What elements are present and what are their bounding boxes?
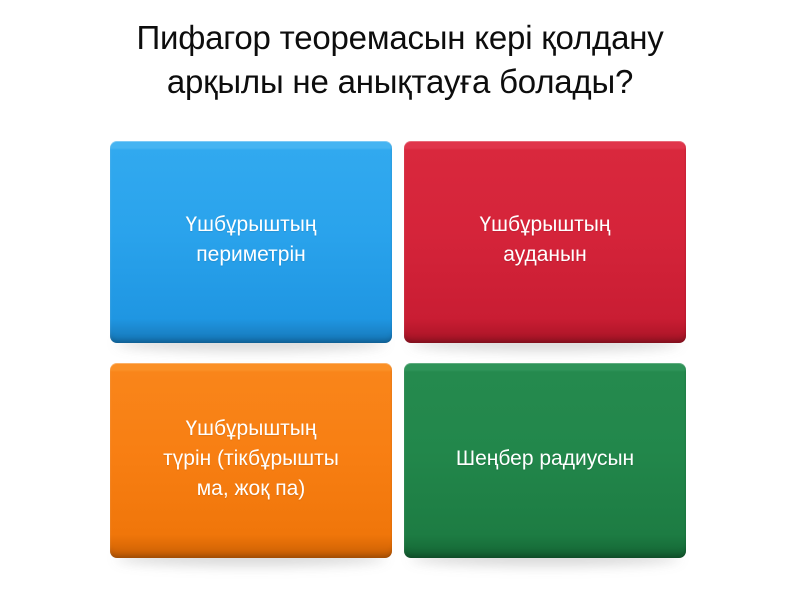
question-area: Пифагор теоремасын кері қолдану арқылы н…: [0, 16, 800, 104]
quiz-slide: Пифагор теоремасын кері қолдану арқылы н…: [0, 0, 800, 600]
answer-option-label: Үшбұрыштың периметрін: [186, 210, 317, 270]
answer-option-orange[interactable]: Үшбұрыштың түрін (тікбұрышты ма, жоқ па): [110, 363, 392, 558]
answer-option-red[interactable]: Үшбұрыштың ауданын: [404, 141, 686, 343]
answer-option-label: Шеңбер радиусын: [456, 444, 634, 474]
answer-options-grid: Үшбұрыштың периметрін Үшбұрыштың ауданын…: [110, 141, 686, 558]
answer-option-green[interactable]: Шеңбер радиусын: [404, 363, 686, 558]
answer-option-label: Үшбұрыштың ауданын: [480, 210, 611, 270]
answer-option-blue[interactable]: Үшбұрыштың периметрін: [110, 141, 392, 343]
question-text: Пифагор теоремасын кері қолдану арқылы н…: [34, 16, 766, 104]
answer-option-label: Үшбұрыштың түрін (тікбұрышты ма, жоқ па): [163, 414, 339, 504]
